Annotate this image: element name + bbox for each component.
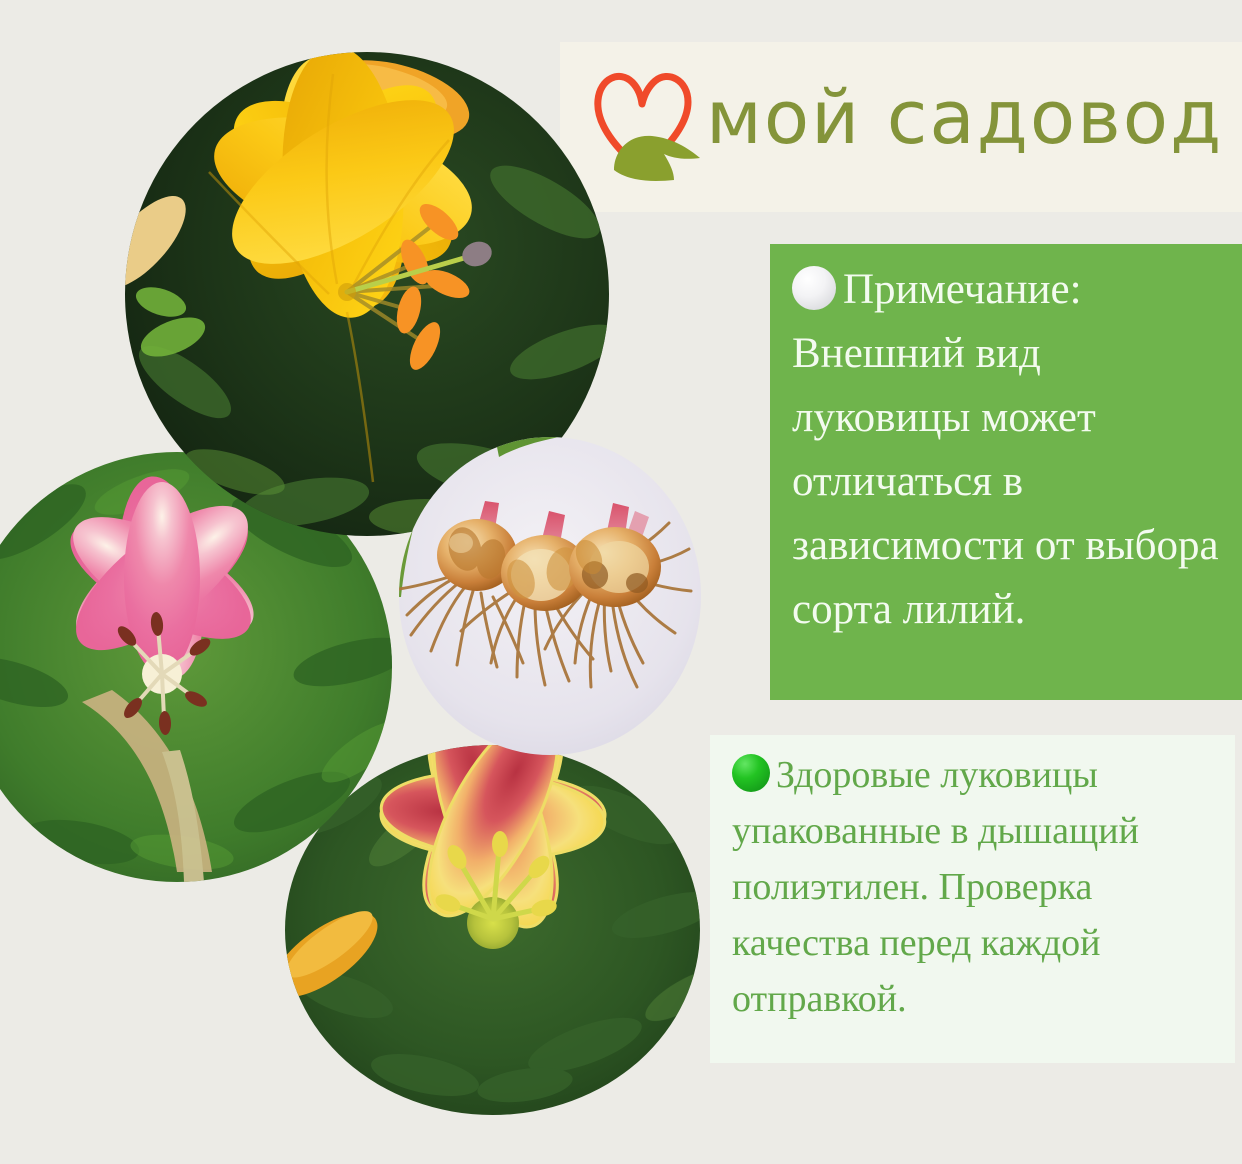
note-callout-text: Примечание: Внешний вид луковицы может о… (792, 258, 1222, 642)
photo-red-yellow-lily (285, 745, 700, 1115)
note-callout-box: Примечание: Внешний вид луковицы может о… (770, 244, 1242, 700)
promo-banner: мой садовод Примечание: Внешний вид луко… (0, 0, 1242, 1164)
logo-wordmark: мой садовод (706, 64, 1242, 174)
quality-info-text: Здоровые луковицы упакованные в дышащий … (732, 747, 1224, 1027)
silver-circle-bullet-icon (792, 266, 836, 310)
photo-lily-bulbs (399, 437, 701, 755)
quality-info-body: Здоровые луковицы упакованные в дышащий … (732, 754, 1139, 1020)
brand-logo: мой садовод (560, 42, 1242, 212)
note-callout-body: Примечание: Внешний вид луковицы может о… (792, 266, 1219, 633)
leaf-hand-icon (608, 124, 704, 184)
quality-info-box: Здоровые луковицы упакованные в дышащий … (710, 735, 1235, 1063)
green-circle-bullet-icon (732, 754, 770, 792)
